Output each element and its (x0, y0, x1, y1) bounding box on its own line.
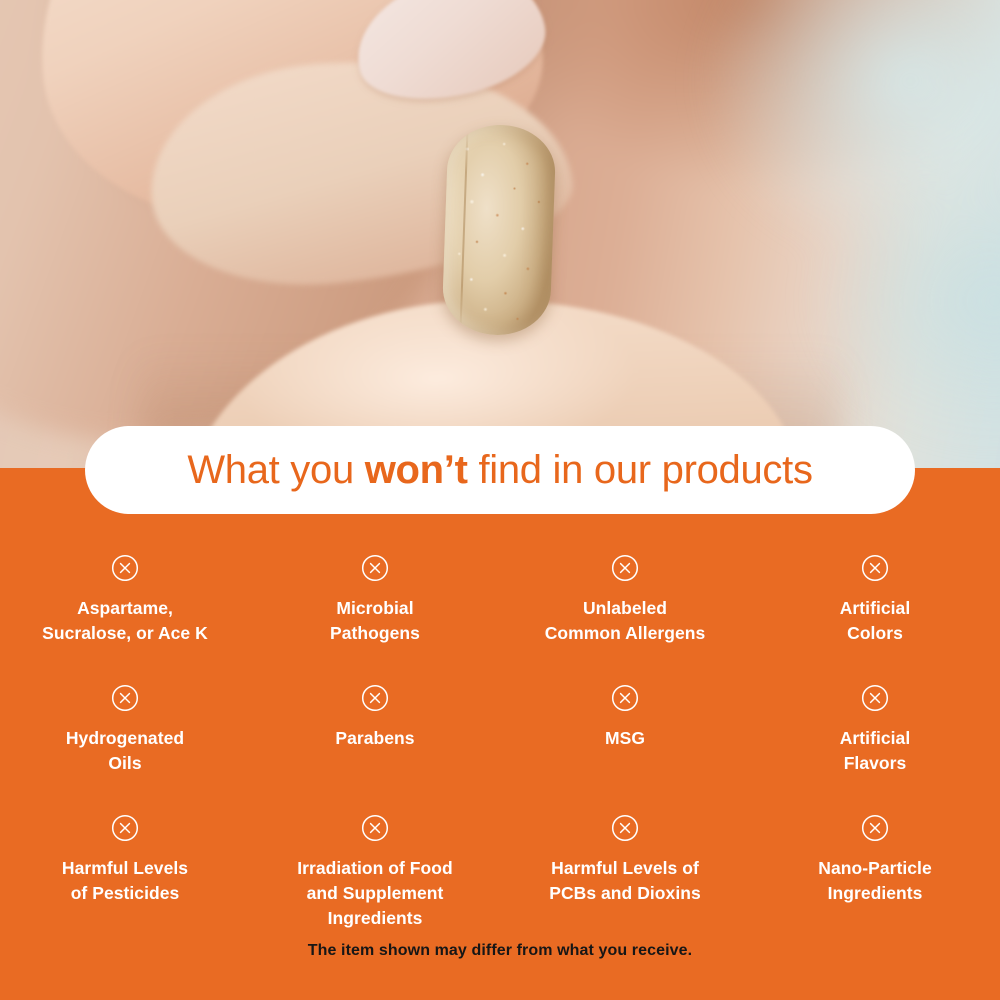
excluded-ingredient-item: Nano-Particle Ingredients (750, 800, 1000, 931)
excluded-ingredient-item: Aspartame, Sucralose, or Ace K (0, 540, 250, 670)
supplement-tablet (441, 123, 556, 337)
headline-emphasis: won’t (365, 448, 468, 492)
circle-x-icon (611, 554, 639, 582)
circle-x-icon (361, 814, 389, 842)
excluded-ingredient-label: Parabens (335, 726, 414, 751)
circle-x-icon (611, 684, 639, 712)
excluded-ingredient-label: Artificial Flavors (840, 726, 911, 776)
circle-x-icon (861, 684, 889, 712)
tablet-speckle-texture (441, 123, 556, 337)
excluded-ingredient-item: Harmful Levels of Pesticides (0, 800, 250, 931)
circle-x-icon (111, 814, 139, 842)
excluded-ingredient-item: Artificial Flavors (750, 670, 1000, 800)
excluded-ingredient-item: Harmful Levels of PCBs and Dioxins (500, 800, 750, 931)
headline-pill: What you won’t find in our products (85, 426, 915, 514)
excluded-ingredient-item: Irradiation of Food and Supplement Ingre… (250, 800, 500, 931)
product-benefits-infographic: What you won’t find in our products Aspa… (0, 0, 1000, 1000)
circle-x-icon (361, 684, 389, 712)
excluded-ingredient-label: Harmful Levels of Pesticides (62, 856, 188, 906)
circle-x-icon (111, 554, 139, 582)
page-title: What you won’t find in our products (187, 450, 812, 490)
excluded-ingredient-label: Irradiation of Food and Supplement Ingre… (297, 856, 453, 931)
excluded-ingredient-label: Aspartame, Sucralose, or Ace K (42, 596, 208, 646)
excluded-ingredient-label: Harmful Levels of PCBs and Dioxins (549, 856, 701, 906)
excluded-ingredient-item: Unlabeled Common Allergens (500, 540, 750, 670)
headline-text-after: find in our products (468, 448, 813, 492)
circle-x-icon (611, 814, 639, 842)
excluded-ingredient-item: MSG (500, 670, 750, 800)
circle-x-icon (861, 814, 889, 842)
circle-x-icon (361, 554, 389, 582)
headline-text-before: What you (187, 448, 364, 492)
excluded-ingredient-label: Artificial Colors (840, 596, 911, 646)
excluded-ingredient-item: Artificial Colors (750, 540, 1000, 670)
excluded-ingredient-item: Hydrogenated Oils (0, 670, 250, 800)
excluded-ingredient-label: Unlabeled Common Allergens (545, 596, 706, 646)
excluded-ingredient-item: Parabens (250, 670, 500, 800)
excluded-ingredients-grid: Aspartame, Sucralose, or Ace KMicrobial … (0, 540, 1000, 931)
excluded-ingredient-label: Nano-Particle Ingredients (818, 856, 931, 906)
excluded-ingredient-label: MSG (605, 726, 645, 751)
excluded-ingredient-label: Hydrogenated Oils (66, 726, 184, 776)
circle-x-icon (111, 684, 139, 712)
excluded-ingredient-item: Microbial Pathogens (250, 540, 500, 670)
circle-x-icon (861, 554, 889, 582)
product-photo (0, 0, 1000, 470)
disclaimer-text: The item shown may differ from what you … (0, 942, 1000, 960)
excluded-ingredient-label: Microbial Pathogens (330, 596, 420, 646)
